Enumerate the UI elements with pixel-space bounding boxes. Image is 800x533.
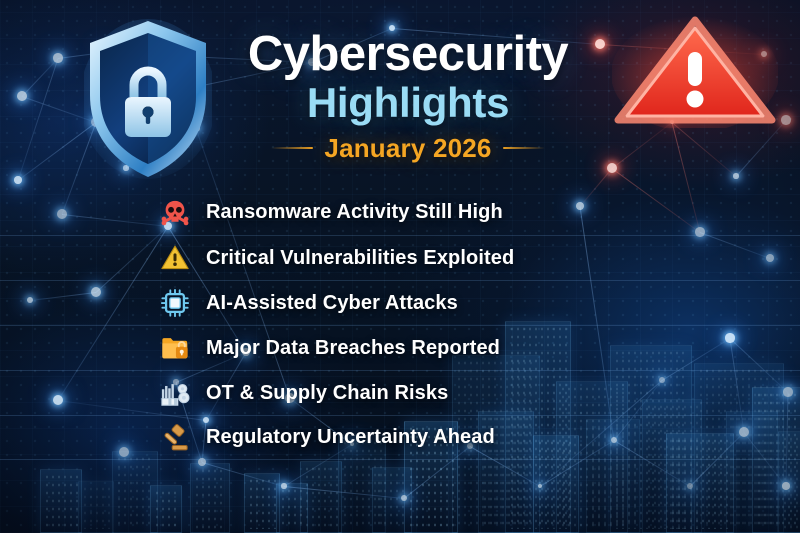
shield-lock-icon [84, 17, 212, 181]
warning-triangle-icon [612, 12, 778, 128]
infographic-canvas: Cybersecurity Highlights January 2026 Ra… [0, 0, 800, 533]
highlight-row: OT & Supply Chain Risks [0, 370, 800, 415]
date-rule-right [503, 147, 545, 149]
page-title: Cybersecurity [228, 30, 588, 79]
locked-folder-icon [158, 331, 192, 365]
page-subtitle: Highlights [228, 81, 588, 126]
cpu-chip-icon [158, 286, 192, 320]
highlight-row: AI-Assisted Cyber Attacks [0, 280, 800, 325]
highlight-row: Major Data Breaches Reported [0, 325, 800, 370]
highlight-row: Critical Vulnerabilities Exploited [0, 235, 800, 280]
skull-crossbones-icon [158, 196, 192, 230]
warning-triangle-icon [158, 241, 192, 275]
highlight-label: Regulatory Uncertainty Ahead [206, 426, 495, 449]
highlight-row: Regulatory Uncertainty Ahead [0, 415, 800, 460]
highlight-label: Ransomware Activity Still High [206, 201, 503, 224]
highlights-list: Ransomware Activity Still High Critical … [0, 190, 800, 460]
date-label: January 2026 [324, 133, 491, 164]
date-rule-left [271, 147, 313, 149]
highlight-label: OT & Supply Chain Risks [206, 382, 448, 405]
highlight-label: AI-Assisted Cyber Attacks [206, 292, 458, 315]
highlight-row: Ransomware Activity Still High [0, 190, 800, 235]
gavel-icon [158, 421, 192, 455]
title-block: Cybersecurity Highlights January 2026 [228, 30, 588, 164]
date-row: January 2026 [228, 133, 588, 164]
highlight-label: Major Data Breaches Reported [206, 337, 500, 360]
highlight-label: Critical Vulnerabilities Exploited [206, 247, 514, 270]
factory-gears-icon [158, 376, 192, 410]
